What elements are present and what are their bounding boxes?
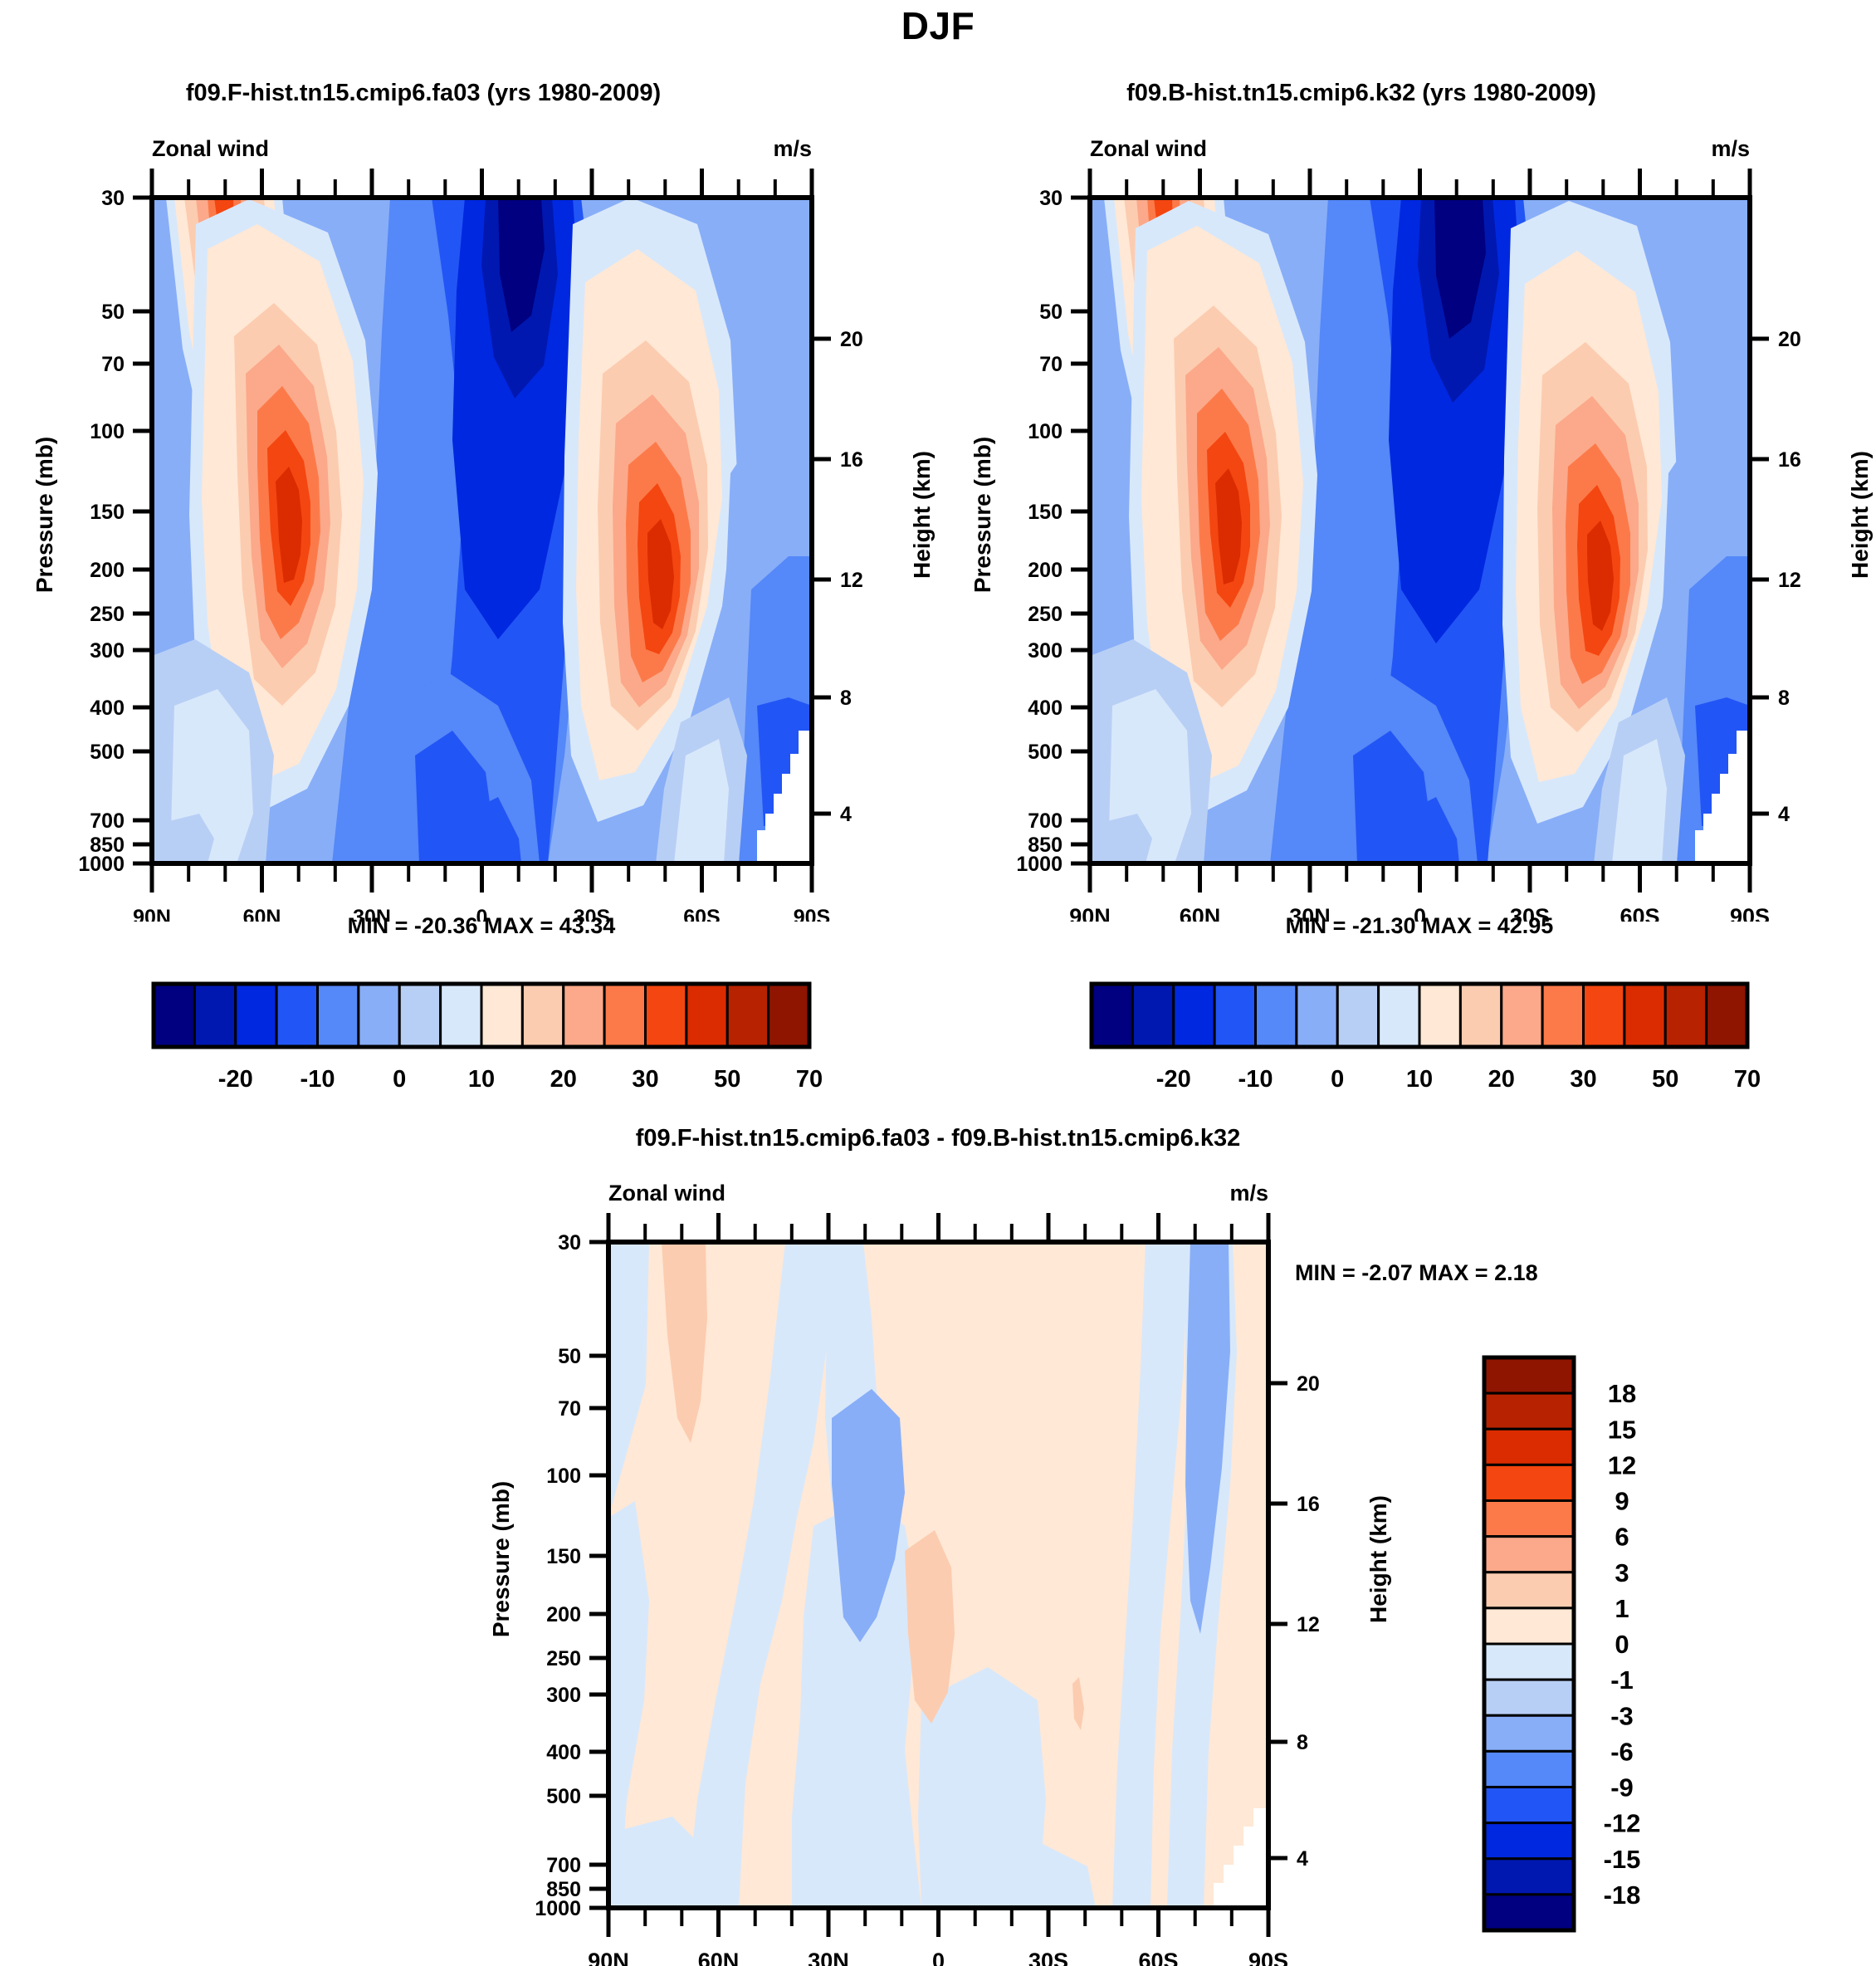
svg-text:50: 50 [101, 301, 125, 324]
colorbar-swatch [1256, 984, 1297, 1047]
svg-text:12: 12 [1778, 569, 1801, 592]
colorbar-tick-label: -20 [1156, 1066, 1191, 1093]
svg-text:30S: 30S [574, 906, 610, 922]
colorbar-tick-label: -12 [1604, 1809, 1641, 1838]
panel-left-lat-axis [152, 863, 812, 893]
colorbar-tick-label: 12 [1608, 1450, 1636, 1479]
colorbar-tick-label: -15 [1604, 1845, 1641, 1874]
svg-text:30N: 30N [1289, 904, 1331, 922]
svg-text:16: 16 [1778, 448, 1801, 472]
colorbar-diff[interactable]: 18151296310-1-3-6-9-12-15-18 [1469, 1349, 1751, 1947]
svg-text:500: 500 [90, 741, 125, 764]
svg-text:50: 50 [558, 1345, 581, 1368]
svg-text:60N: 60N [1180, 904, 1221, 922]
colorbar-swatch [236, 984, 276, 1047]
panel-left-height-ticklabels: 201612 84 [840, 328, 863, 826]
height-axis-title-text: Height (km) [909, 451, 935, 579]
colorbar-swatch [1484, 1393, 1574, 1429]
colorbar-diff-labels: 18151296310-1-3-6-9-12-15-18 [1604, 1379, 1641, 1910]
svg-text:100: 100 [90, 420, 125, 443]
svg-text:4: 4 [1778, 803, 1790, 826]
colorbar-tick-label: -9 [1610, 1773, 1634, 1802]
colorbar-swatch [359, 984, 399, 1047]
colorbar-tick-label: 30 [1570, 1066, 1596, 1093]
colorbar-tick-label: -20 [218, 1066, 253, 1093]
colorbar-tick-label: 10 [468, 1066, 495, 1093]
svg-text:12: 12 [1297, 1613, 1320, 1636]
colorbar-swatch [1584, 984, 1624, 1047]
panel-left-pressure-axis-title: Pressure (mb) [32, 515, 188, 541]
svg-text:300: 300 [90, 639, 125, 663]
colorbar-swatch [1337, 984, 1378, 1047]
colorbar-swatch [1502, 984, 1542, 1047]
colorbar-swatch [1484, 1823, 1574, 1859]
colorbar-swatch [318, 984, 359, 1047]
svg-text:1000: 1000 [535, 1897, 581, 1920]
svg-text:500: 500 [1028, 741, 1063, 764]
colorbar-tick-label: 70 [796, 1066, 823, 1093]
svg-text:20: 20 [1778, 328, 1801, 351]
colorbar-swatch [1665, 984, 1706, 1047]
colorbar-swatch [1484, 1644, 1574, 1680]
panel-left-lat-ticklabels: 90N60N30N 030S60S 90S [133, 906, 830, 922]
panel-diff-pressure-axis-title: Pressure (mb) [488, 1559, 644, 1586]
colorbar-swatch [276, 984, 317, 1047]
svg-text:700: 700 [90, 809, 125, 833]
page-title: DJF [0, 3, 1876, 48]
colorbar-swatch [1484, 1608, 1574, 1644]
colorbar-tick-label: 10 [1406, 1066, 1433, 1093]
svg-text:30S: 30S [1510, 904, 1550, 922]
svg-text:70: 70 [101, 353, 125, 376]
colorbar-swatch [194, 984, 235, 1047]
svg-text:50: 50 [1039, 301, 1063, 324]
colorbar-swatch [399, 984, 440, 1047]
svg-text:12: 12 [840, 569, 863, 592]
panel-right-lat-axis [1090, 863, 1750, 893]
svg-text:60N: 60N [698, 1949, 740, 1966]
svg-text:100: 100 [1028, 420, 1063, 443]
colorbar-main-left[interactable]: -20-1001020305070 [133, 976, 830, 1100]
svg-text:30S: 30S [1028, 1949, 1068, 1966]
svg-text:1000: 1000 [1016, 853, 1063, 876]
svg-text:0: 0 [932, 1949, 945, 1966]
colorbar-swatch [441, 984, 481, 1047]
colorbar-swatch [1484, 1465, 1574, 1500]
svg-text:30N: 30N [353, 906, 391, 922]
colorbar-swatch [1092, 984, 1132, 1047]
colorbar-swatch [1379, 984, 1419, 1047]
colorbar-swatch [1484, 1751, 1574, 1787]
svg-text:20: 20 [1297, 1372, 1320, 1396]
panel-right-contour-field [1090, 198, 1750, 863]
svg-text:16: 16 [1297, 1493, 1320, 1516]
colorbar-swatch [1297, 984, 1337, 1047]
colorbar-tick-label: 20 [550, 1066, 577, 1093]
colorbar-tick-label: 20 [1488, 1066, 1515, 1093]
colorbar-swatch [1484, 1895, 1574, 1930]
svg-text:250: 250 [1028, 603, 1063, 626]
colorbar-tick-label: 0 [393, 1066, 406, 1093]
height-axis-title-text-right: Height (km) [1847, 451, 1873, 579]
colorbar-tick-label: 0 [1615, 1630, 1629, 1659]
colorbar-swatch [481, 984, 522, 1047]
colorbar-swatch [1542, 984, 1583, 1047]
colorbar-tick-label: -6 [1610, 1737, 1634, 1766]
svg-text:90N: 90N [133, 906, 171, 922]
svg-text:400: 400 [546, 1741, 581, 1764]
panel-diff-title: f09.F-hist.tn15.cmip6.fa03 - f09.B-hist.… [315, 1125, 1561, 1152]
colorbar-tick-label: 1 [1615, 1594, 1629, 1623]
svg-text:300: 300 [1028, 639, 1063, 663]
svg-text:400: 400 [90, 697, 125, 720]
colorbar-diff-swatches [1484, 1357, 1574, 1930]
panel-left-height-axis [812, 339, 831, 814]
svg-text:16: 16 [840, 448, 863, 472]
colorbar-swatch [1484, 1429, 1574, 1465]
colorbar-left-swatches [154, 984, 809, 1047]
svg-text:250: 250 [90, 603, 125, 626]
panel-right-top-ticks [1090, 169, 1750, 198]
panel-right-lat-ticklabels: 90N60N30N 030S60S 90S [1069, 904, 1770, 922]
svg-text:250: 250 [546, 1647, 581, 1670]
svg-text:100: 100 [546, 1465, 581, 1488]
svg-text:90S: 90S [1248, 1949, 1288, 1966]
panel-right-height-axis-title: Height (km) [1847, 515, 1876, 541]
colorbar-swatch [727, 984, 768, 1047]
svg-text:30: 30 [558, 1231, 581, 1254]
colorbar-right-labels: -20-1001020305070 [1156, 1066, 1761, 1093]
colorbar-tick-label: 70 [1734, 1066, 1761, 1093]
svg-text:70: 70 [558, 1397, 581, 1421]
panel-right-title: f09.B-hist.tn15.cmip6.k32 (yrs 1980-2009… [955, 80, 1768, 107]
svg-text:8: 8 [1778, 687, 1790, 710]
svg-text:20: 20 [840, 328, 863, 351]
colorbar-swatch [1419, 984, 1460, 1047]
svg-text:4: 4 [1297, 1847, 1308, 1871]
svg-text:400: 400 [1028, 697, 1063, 720]
svg-text:200: 200 [90, 559, 125, 582]
svg-text:700: 700 [546, 1854, 581, 1877]
svg-text:1000: 1000 [78, 853, 125, 876]
panel-diff-lat-ticklabels: 90N60N30N 030S60S 90S [588, 1949, 1288, 1966]
svg-text:90N: 90N [1069, 904, 1111, 922]
colorbar-swatch [564, 984, 604, 1047]
colorbar-swatch [1484, 1501, 1574, 1537]
svg-text:70: 70 [1039, 353, 1063, 376]
colorbar-swatch [646, 984, 686, 1047]
svg-text:60S: 60S [683, 906, 720, 922]
colorbar-tick-label: 18 [1608, 1379, 1636, 1408]
figure-root: DJF f09.F-hist.tn15.cmip6.fa03 (yrs 1980… [0, 0, 1876, 1965]
svg-text:8: 8 [1297, 1731, 1308, 1754]
colorbar-swatch [1484, 1537, 1574, 1572]
colorbar-main-right[interactable]: -20-1001020305070 [1071, 976, 1768, 1100]
panel-diff-lat-axis [608, 1908, 1268, 1937]
svg-text:30: 30 [1039, 187, 1063, 210]
svg-text:0: 0 [476, 906, 488, 922]
colorbar-tick-label: 50 [1652, 1066, 1678, 1093]
svg-text:60S: 60S [1138, 1949, 1178, 1966]
colorbar-swatch [686, 984, 727, 1047]
svg-text:200: 200 [1028, 559, 1063, 582]
colorbar-swatch [522, 984, 563, 1047]
colorbar-swatch [1460, 984, 1501, 1047]
colorbar-tick-label: -10 [300, 1066, 335, 1093]
svg-text:60S: 60S [1620, 904, 1659, 922]
colorbar-swatch [1484, 1572, 1574, 1608]
svg-text:300: 300 [546, 1684, 581, 1707]
panel-diff-height-ticklabels: 201612 84 [1297, 1372, 1320, 1871]
panel-diff-top-ticks [608, 1213, 1268, 1242]
panel-left-title: f09.F-hist.tn15.cmip6.fa03 (yrs 1980-200… [17, 80, 830, 107]
svg-text:90N: 90N [588, 1949, 629, 1966]
colorbar-swatch [604, 984, 645, 1047]
colorbar-right-swatches [1092, 984, 1747, 1047]
colorbar-swatch [769, 984, 809, 1047]
colorbar-tick-label: 9 [1615, 1487, 1629, 1516]
panel-diff-height-axis [1268, 1383, 1287, 1858]
colorbar-tick-label: 15 [1608, 1415, 1636, 1444]
colorbar-tick-label: 6 [1615, 1523, 1629, 1552]
svg-text:30: 30 [101, 187, 125, 210]
svg-text:4: 4 [840, 803, 852, 826]
svg-text:500: 500 [546, 1785, 581, 1808]
colorbar-swatch [1624, 984, 1665, 1047]
colorbar-swatch [1484, 1357, 1574, 1393]
panel-left-top-ticks [152, 169, 812, 198]
panel-right-height-ticklabels: 201612 84 [1778, 328, 1801, 826]
svg-text:0: 0 [1414, 904, 1426, 922]
svg-text:200: 200 [546, 1603, 581, 1626]
pressure-axis-title-text: Pressure (mb) [32, 437, 57, 593]
svg-text:90S: 90S [1730, 904, 1770, 922]
colorbar-tick-label: -10 [1238, 1066, 1273, 1093]
panel-left-contour-field [152, 198, 812, 863]
svg-text:60N: 60N [243, 906, 281, 922]
colorbar-swatch [1214, 984, 1255, 1047]
colorbar-tick-label: 30 [632, 1066, 658, 1093]
colorbar-tick-label: 3 [1615, 1558, 1629, 1587]
svg-text:90S: 90S [794, 906, 830, 922]
colorbar-swatch [154, 984, 194, 1047]
colorbar-tick-label: -18 [1604, 1880, 1641, 1910]
colorbar-swatch [1484, 1859, 1574, 1895]
svg-text:30N: 30N [808, 1949, 849, 1966]
colorbar-tick-label: -3 [1610, 1701, 1634, 1730]
colorbar-swatch [1707, 984, 1747, 1047]
height-axis-title-text-diff: Height (km) [1365, 1495, 1391, 1623]
colorbar-swatch [1484, 1787, 1574, 1823]
svg-text:700: 700 [1028, 809, 1063, 833]
colorbar-tick-label: 0 [1331, 1066, 1344, 1093]
colorbar-left-labels: -20-1001020305070 [218, 1066, 823, 1093]
colorbar-swatch [1132, 984, 1173, 1047]
svg-text:8: 8 [840, 687, 852, 710]
pressure-axis-title-text-right: Pressure (mb) [970, 437, 995, 593]
panel-right-pressure-axis-title: Pressure (mb) [970, 515, 1126, 541]
colorbar-tick-label: 50 [714, 1066, 740, 1093]
panel-right-height-axis [1750, 339, 1769, 814]
panel-diff-contour-field [608, 1242, 1268, 1908]
pressure-axis-title-text-diff: Pressure (mb) [488, 1481, 514, 1637]
colorbar-swatch [1484, 1680, 1574, 1715]
colorbar-tick-label: -1 [1610, 1665, 1634, 1695]
colorbar-swatch [1174, 984, 1214, 1047]
colorbar-swatch [1484, 1715, 1574, 1751]
